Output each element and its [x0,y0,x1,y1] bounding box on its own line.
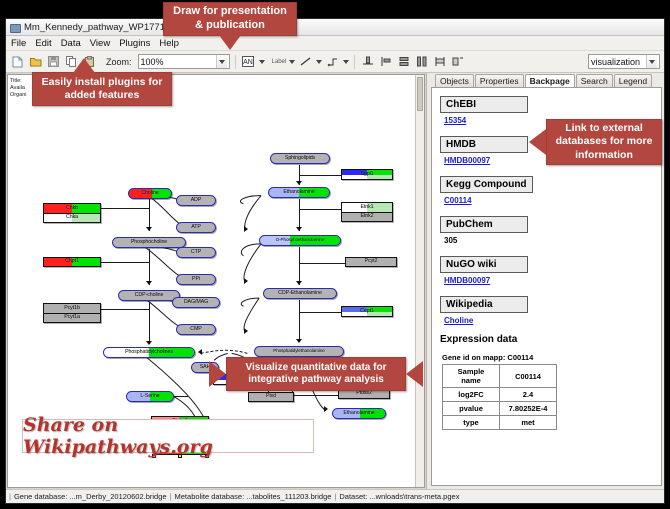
arrowhead-icon [244,226,248,232]
node-label: CMP [190,327,201,332]
table-row: Sample name C00114 [443,365,557,388]
callout-pointer-down [219,35,241,50]
chevron-down-icon[interactable] [259,60,265,64]
edge-cdpetn-ptdetn [299,300,300,342]
node-label: Pcyt1b [64,306,80,311]
node-etnk1[interactable]: Etnk1 [341,202,393,212]
table-row: pvalue 7.80252E-4 [443,402,557,416]
cell-key: type [443,416,500,430]
menu-item-edit[interactable]: Edit [35,38,51,49]
node-label: Chka [66,215,78,220]
node-dag-mag[interactable]: DAG/MAG [172,297,220,308]
arrowhead-icon [146,341,152,345]
tab-backpage[interactable]: Backpage [525,74,575,87]
node-adp[interactable]: ADP [176,195,216,206]
cell-value: 7.80252E-4 [500,402,557,416]
common-height-icon[interactable] [450,54,465,69]
chevron-down-icon[interactable] [216,55,227,68]
cell-value: C00114 [500,365,557,388]
node-label: Chpt1 [65,259,79,264]
expression-table: Sample name C00114 log2FC 2.4 pvalue 7.8… [442,364,557,430]
db-header-hmdb: HMDB [440,136,528,153]
common-width-icon[interactable] [432,54,447,69]
expression-data-heading: Expression data [440,334,653,345]
db-header-pubchem: PubChem [440,216,528,233]
node-label: Ethanolamine [343,411,374,416]
line-tool-icon[interactable] [298,54,313,69]
node-ppi[interactable]: PPi [176,274,216,285]
node-cdp-ethanolamine[interactable]: CDP-Ethanolamine [263,288,337,299]
node-label: Pcyt1a [64,315,80,320]
callout-external-links: Link to external databases for more info… [546,119,662,165]
node-label: Chkb [66,206,78,211]
node-phosphatidylcholines[interactable]: Phosphatidylcholines [103,347,195,358]
node-cmp[interactable]: CMP [176,324,216,335]
db-value-pubchem: 305 [444,236,653,245]
connector-tool-icon[interactable] [325,54,340,69]
node-label: CDP-choline [135,293,164,298]
node-o-phosphoethanolamine[interactable]: O-Phosphoethanolamine [259,235,341,246]
status-separator: | [170,492,172,501]
db-header-wikipedia: Wikipedia [440,296,528,313]
arrowhead-icon [296,339,302,343]
callout-install-plugins: Easily install plugins for added feature… [32,72,172,106]
gene-id-label: Gene id on mapp: C00114 [442,353,653,362]
node-label: ADP [191,198,202,203]
node-l-serine-left[interactable]: L-Serine [126,391,174,402]
node-label: CTP [191,250,201,255]
arrowhead-icon [198,349,202,355]
db-link-wikipedia[interactable]: Choline [444,316,653,325]
node-chpt1[interactable]: Chpt1 [43,257,101,267]
node-label: Phosphatidylethanolamine [273,349,325,354]
cell-value: met [500,416,557,430]
node-pisd[interactable]: Pisd [248,392,294,402]
stack-vertical-icon[interactable] [396,54,411,69]
table-row: type met [443,416,557,430]
node-ethanolamine-top[interactable]: Ethanolamine [268,187,330,198]
edge-phosphocholine-cdpcholine [149,249,150,285]
side-panel-tabs: Objects Properties Backpage Search Legen… [427,73,664,87]
callout-pointer-left [406,361,423,387]
app-icon [10,22,20,32]
visualization-combobox[interactable]: visualization [588,54,660,69]
node-sphingolipids[interactable]: Sphingolipids [270,153,330,164]
node-pcyt2[interactable]: Pcyt2 [345,257,397,267]
menu-item-data[interactable]: Data [61,38,81,49]
node-ethanolamine-right[interactable]: Ethanolamine [332,408,386,419]
toolbar-separator [235,55,236,69]
tab-legend[interactable]: Legend [614,74,652,87]
node-ctp[interactable]: CTP [176,247,216,258]
node-choline-top[interactable]: Choline [128,188,172,199]
save-icon[interactable] [46,54,61,69]
node-pcyt1b[interactable]: Pcyt1b [43,303,101,313]
align-top-icon[interactable] [360,54,375,69]
arrowhead-icon [296,281,302,285]
edge-sgpl1-catalysis [299,175,341,176]
chevron-down-icon[interactable] [316,60,322,64]
node-label: L-Serine [140,394,159,399]
visualization-value: visualization [591,57,646,67]
chevron-down-icon[interactable] [646,55,657,68]
status-metabolite-database: Metabolite database: ...tabolites_111203… [175,492,332,501]
zoom-label: Zoom: [106,57,132,67]
tab-search[interactable]: Search [576,74,613,87]
arrowhead-icon [146,281,152,285]
node-label: ATP [191,225,201,230]
node-phosphatidylethanolamine[interactable]: Phosphatidylethanolamine [254,346,344,357]
db-header-chebi: ChEBI [440,96,528,113]
node-label: Ptdss2 [356,391,372,396]
status-separator: | [334,492,336,501]
db-link-kegg[interactable]: C00114 [444,196,653,205]
callout-share-wikipathways: Share on Wikipathways.org [22,419,314,453]
node-atp[interactable]: ATP [176,222,216,233]
status-dataset: Dataset: ...wnloads\trans-meta.pgex [339,492,459,501]
menu-item-view[interactable]: View [90,38,110,49]
node-label: Ethanolamine [283,190,314,195]
edge-chpt1-catalysis [99,262,149,263]
edge-etnk-catalysis [299,209,341,210]
new-file-icon[interactable] [10,54,25,69]
open-folder-icon[interactable] [28,54,43,69]
edge-lserine-stub [174,396,188,397]
node-cept1[interactable]: Cept1 [341,306,393,317]
zoom-combobox[interactable]: 100% [138,54,230,69]
canvas-vertical-scrollbar[interactable] [415,75,424,487]
chevron-down-icon[interactable] [343,60,349,64]
node-label: Phosphocholine [131,240,167,245]
node-chka[interactable]: Chka [43,213,101,223]
menu-item-help[interactable]: Help [159,38,179,49]
tab-properties[interactable]: Properties [475,74,524,87]
arrowhead-icon [244,278,248,284]
callout-pointer-right [209,361,226,387]
edge-pcyt2-catalysis [299,263,345,264]
tab-objects[interactable]: Objects [435,74,474,87]
toolbar: Zoom: 100% AN Label [6,51,664,73]
callout-draw-for-publication: Draw for presentation & publication [163,2,297,36]
menu-bar: File Edit Data View Plugins Help [6,36,664,51]
node-pcyt1a[interactable]: Pcyt1a [43,313,101,323]
node-label: Pcyt2 [365,259,378,264]
cell-value: 2.4 [500,388,557,402]
callout-pointer-up [73,58,95,73]
node-label: CDP-Ethanolamine [278,291,322,296]
cell-key: pvalue [443,402,500,416]
align-left-icon[interactable] [378,54,393,69]
table-row: log2FC 2.4 [443,388,557,402]
node-label: Cept1 [360,309,374,314]
node-label: Pisd [266,394,276,399]
status-gene-database: Gene database: ...m_Derby_20120602.bridg… [14,492,167,501]
menu-item-file[interactable]: File [11,38,26,49]
node-label: Sphingolipids [285,156,315,161]
node-chkb[interactable]: Chkb [43,203,101,213]
arrowhead-icon [244,328,248,334]
chevron-down-icon[interactable] [289,60,295,64]
zoom-value: 100% [141,57,216,67]
db-header-kegg: Kegg Compound [440,176,533,193]
scrollbar-thumb[interactable] [417,77,423,111]
node-label: DAG/MAG [184,300,208,305]
edge-chk-catalysis [99,208,149,209]
node-label: O-Phosphoethanolamine [276,238,325,243]
callout-pointer-left [529,129,546,155]
window-titlebar: Mm_Kennedy_pathway_WP1771_45176.gpml [6,19,664,36]
edge-pcyt1-catalysis [99,309,149,310]
status-bar: | Gene database: ...m_Derby_20120602.bri… [6,489,664,503]
edge-ptdss2-catalysis [292,395,338,396]
svg-text:AN: AN [243,59,253,66]
db-header-nugo: NuGO wiki [440,256,528,273]
node-label: PPi [192,277,200,282]
callout-visualize-data: Visualize quantitative data for integrat… [226,357,406,391]
node-etnk2[interactable]: Etnk2 [341,212,393,222]
cell-key: log2FC [443,388,500,402]
edge-pe-cdpethanolamine [299,247,300,285]
node-label: Phosphatidylcholines [125,350,173,355]
toolbar-separator [354,55,355,69]
status-separator: | [9,492,11,501]
node-label: Sgpl1 [360,172,373,177]
db-link-nugo[interactable]: HMDB00097 [444,276,653,285]
text-label-icon[interactable]: AN [241,54,256,69]
stack-horizontal-icon[interactable] [414,54,429,69]
edge-cept1-catalysis [299,312,341,313]
arrowhead-icon [324,406,328,412]
cell-key: Sample name [443,365,500,388]
node-label: Choline [141,191,158,196]
menu-item-plugins[interactable]: Plugins [119,38,150,49]
arrowhead-icon [296,181,302,185]
node-label: Etnk2 [360,214,373,219]
node-cdp-choline[interactable]: CDP-choline [118,290,180,301]
label-tool-caption: Label [272,59,287,65]
arrowhead-icon [296,227,302,231]
node-phosphocholine[interactable]: Phosphocholine [112,237,186,248]
arrowhead-icon [146,227,152,231]
node-label: Etnk1 [360,205,373,210]
edge-cdpcholine-pc [149,302,150,344]
node-sgpl1[interactable]: Sgpl1 [341,169,393,180]
